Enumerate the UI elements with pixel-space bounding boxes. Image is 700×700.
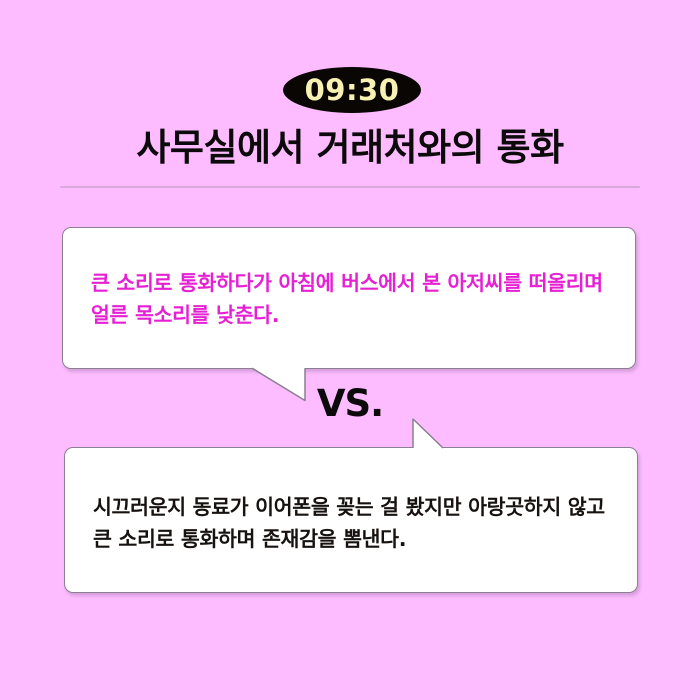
scenario-card: 09:30 사무실에서 거래처와의 통화 큰 소리로 통화하다가 아침에 버스에… — [0, 0, 700, 700]
option-b-bubble-tail — [413, 418, 443, 448]
time-badge-label: 09:30 — [305, 76, 400, 105]
option-b-text: 시끄러운지 동료가 이어폰을 꽂는 걸 봤지만 아랑곳하지 않고 큰 소리로 통… — [93, 492, 613, 556]
page-title: 사무실에서 거래처와의 통화 — [0, 126, 700, 170]
vs-label: VS. — [0, 385, 700, 422]
option-a-bubble[interactable]: 큰 소리로 통화하다가 아침에 버스에서 본 아저씨를 떠올리며 얼른 목소리를… — [62, 227, 636, 369]
title-divider — [60, 186, 640, 188]
time-badge: 09:30 — [283, 67, 421, 113]
option-b-bubble[interactable]: 시끄러운지 동료가 이어폰을 꽂는 걸 봤지만 아랑곳하지 않고 큰 소리로 통… — [64, 447, 638, 593]
option-a-text: 큰 소리로 통화하다가 아침에 버스에서 본 아저씨를 떠올리며 얼른 목소리를… — [91, 268, 611, 332]
